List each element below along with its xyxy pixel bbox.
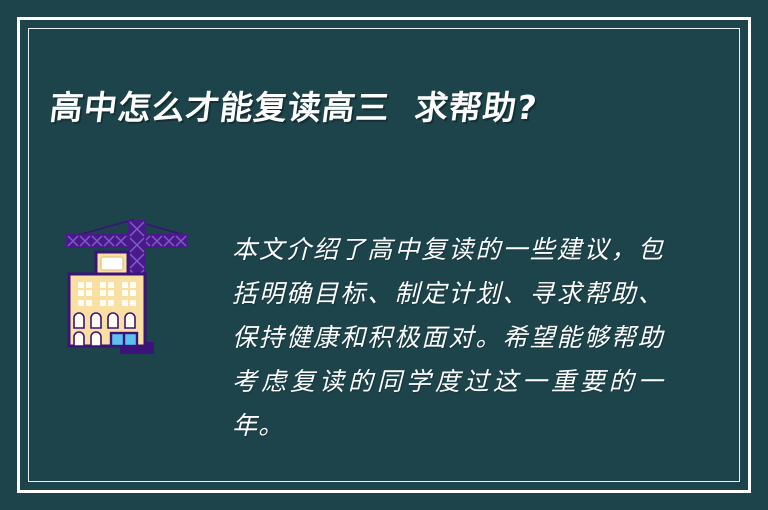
poster-canvas: 高中怎么才能复读高三 求帮助? — [0, 0, 768, 510]
construction-crane-building-illustration — [58, 216, 192, 356]
page-title: 高中怎么才能复读高三 求帮助? — [48, 88, 713, 128]
body-paragraph: 本文介绍了高中复读的一些建议，包括明确目标、制定计划、寻求帮助、保持健康和积极面… — [232, 228, 664, 448]
